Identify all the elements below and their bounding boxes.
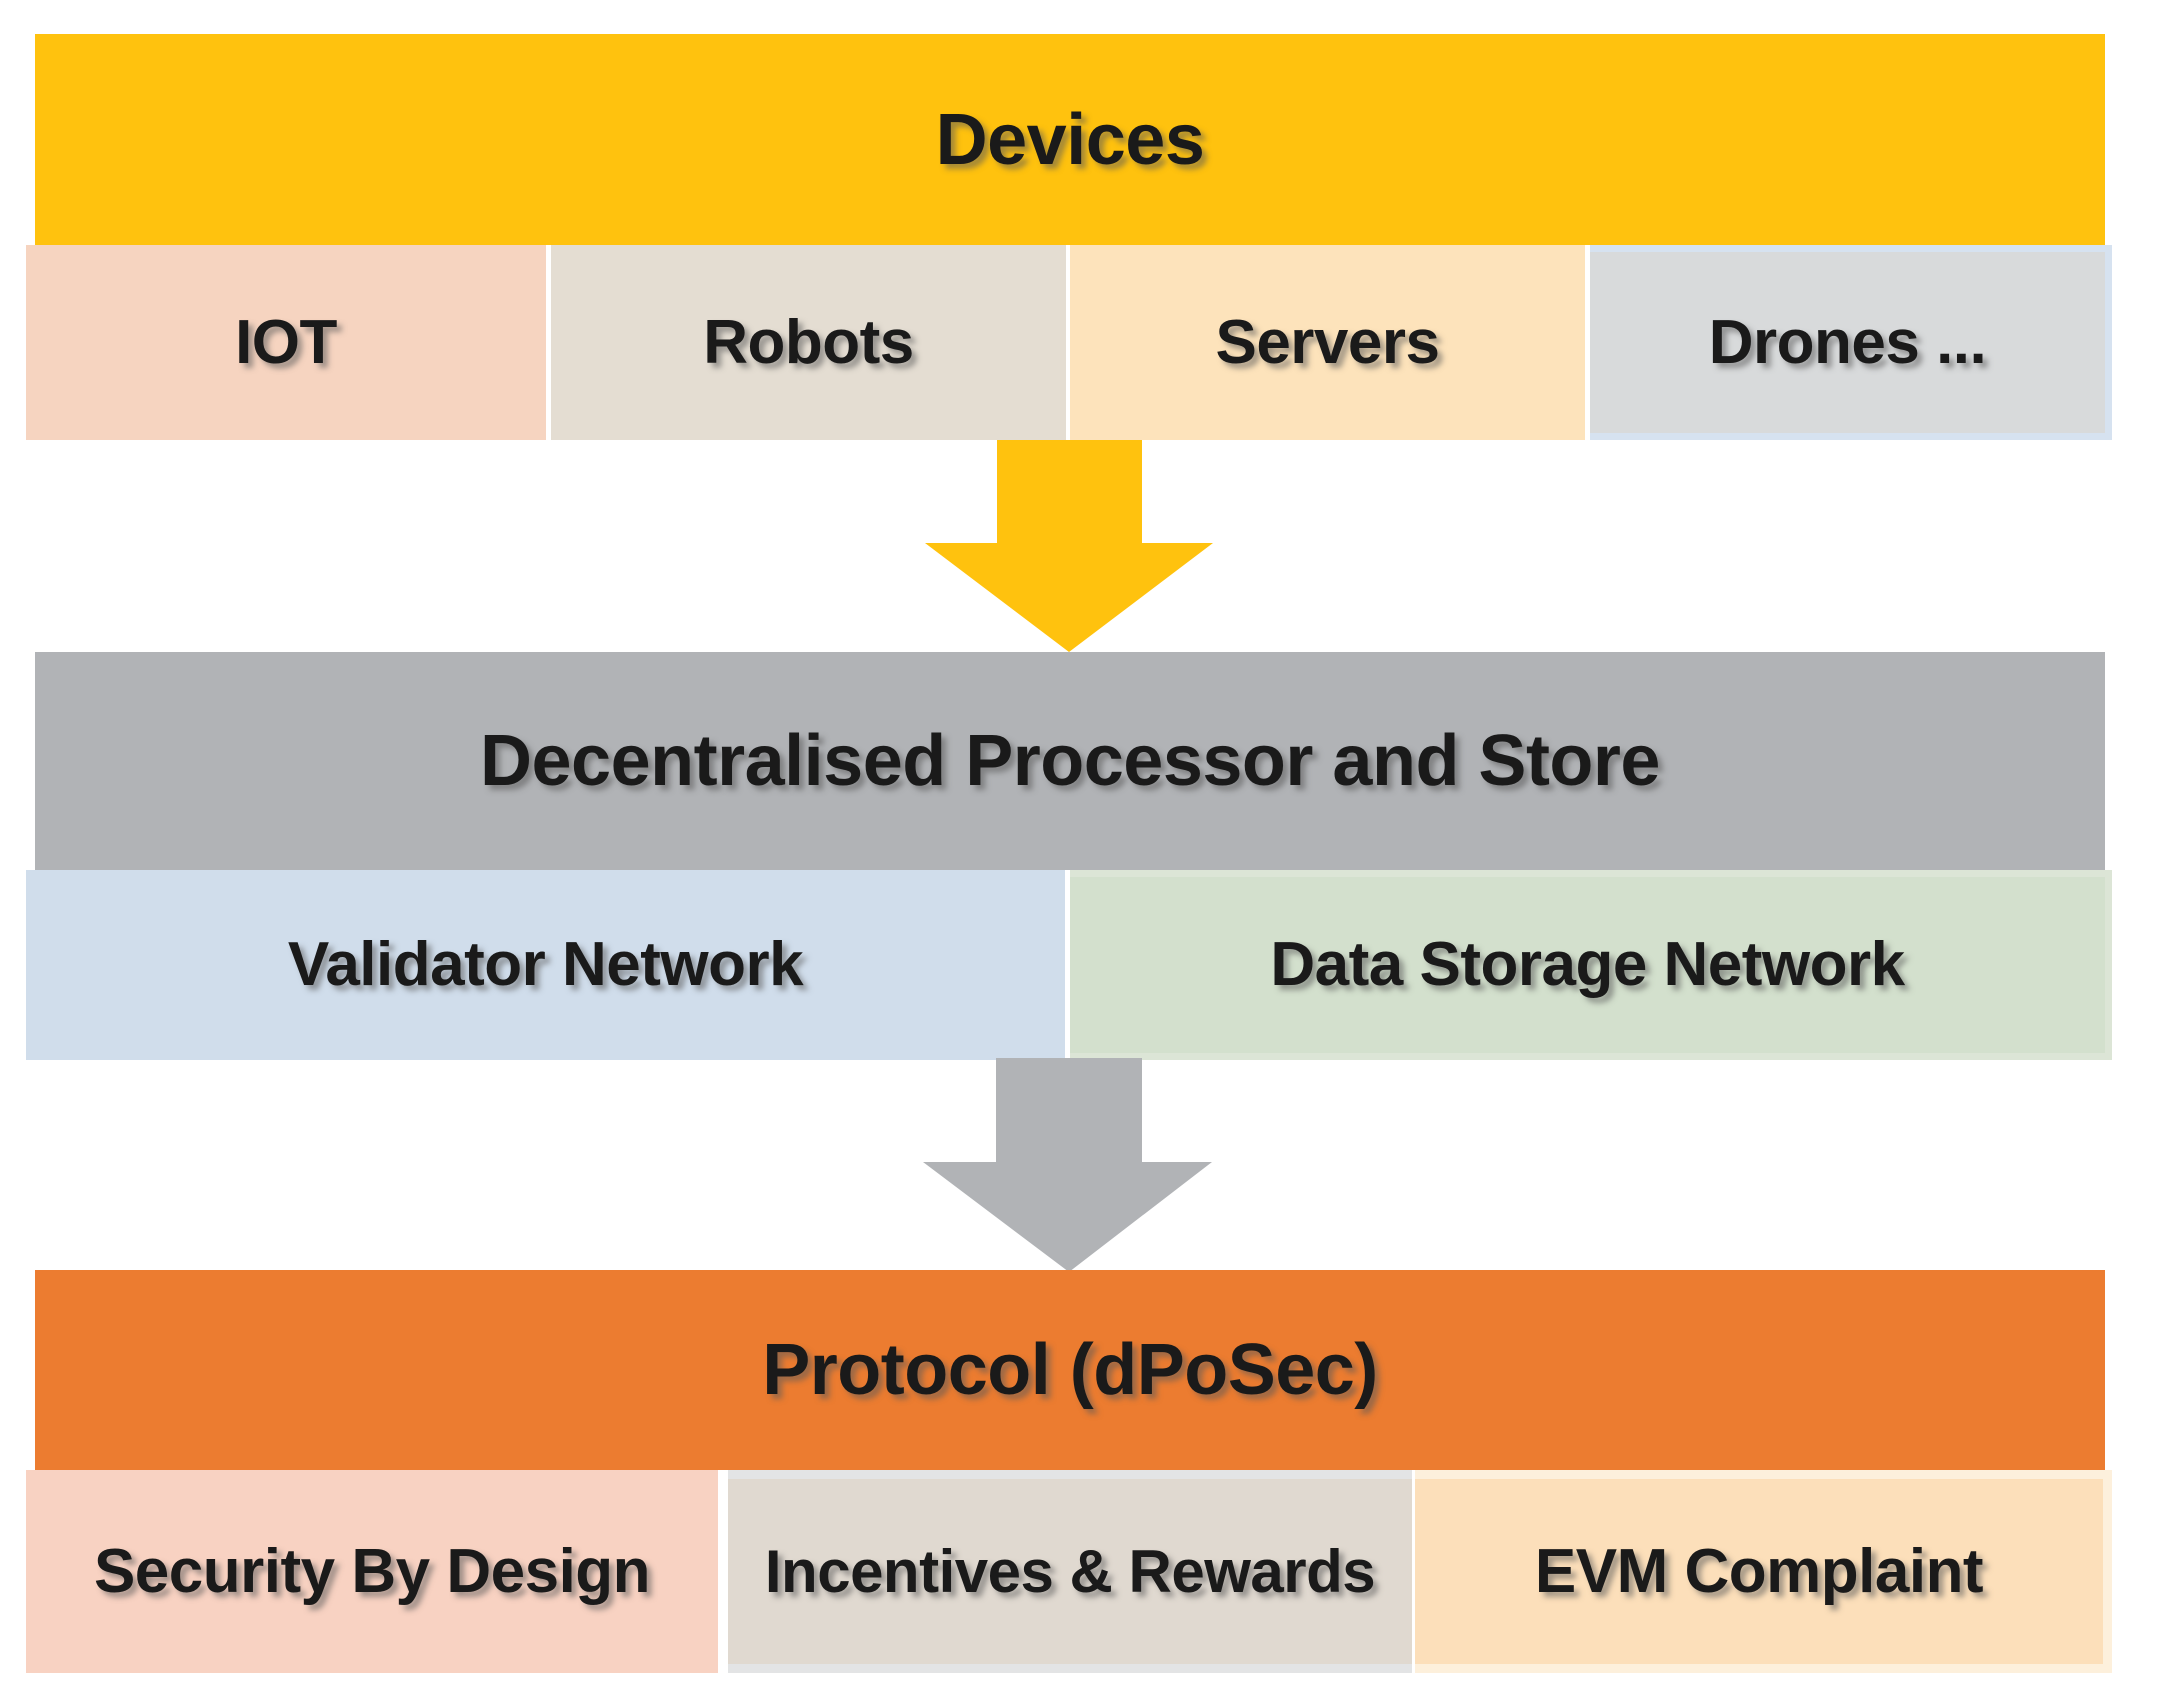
protocol-box-evm-complaint-label: EVM Complaint bbox=[1523, 1537, 1995, 1606]
protocol-box-incentives-and-rewards: Incentives & Rewards bbox=[728, 1470, 1412, 1673]
device-box-servers-label: Servers bbox=[1203, 308, 1451, 377]
protocol-box-incentives-and-rewards-label: Incentives & Rewards bbox=[753, 1538, 1387, 1605]
protocol-band: Protocol (dPoSec) bbox=[35, 1270, 2105, 1470]
devices-subrow: IOT Robots Servers Drones ... bbox=[26, 245, 2112, 440]
processor-box-data-storage-network: Data Storage Network bbox=[1070, 870, 2112, 1060]
processor-subrow: Validator Network Data Storage Network bbox=[26, 870, 2112, 1060]
protocol-box-security-by-design-label: Security By Design bbox=[82, 1537, 662, 1606]
arrow-down-processor-to-protocol bbox=[0, 1058, 2157, 1272]
diagram-canvas: Devices IOT Robots Servers Drones ... De… bbox=[0, 0, 2157, 1694]
devices-band: Devices bbox=[35, 34, 2105, 245]
processor-box-validator-network-label: Validator Network bbox=[276, 930, 815, 999]
protocol-box-evm-complaint: EVM Complaint bbox=[1415, 1470, 2112, 1673]
arrow-down-devices-to-processor bbox=[0, 440, 2157, 652]
device-box-servers: Servers bbox=[1070, 245, 1585, 440]
protocol-box-security-by-design: Security By Design bbox=[26, 1470, 718, 1673]
device-box-robots: Robots bbox=[551, 245, 1066, 440]
processor-band: Decentralised Processor and Store bbox=[35, 652, 2105, 870]
device-box-iot-label: IOT bbox=[223, 308, 349, 377]
device-box-drones-label: Drones ... bbox=[1697, 308, 1999, 377]
device-box-iot: IOT bbox=[26, 245, 546, 440]
device-box-robots-label: Robots bbox=[691, 308, 926, 377]
divider-security-incentives bbox=[718, 1470, 728, 1673]
device-box-drones: Drones ... bbox=[1590, 245, 2112, 440]
processor-box-data-storage-network-label: Data Storage Network bbox=[1258, 930, 1916, 999]
protocol-subrow: Security By Design Incentives & Rewards … bbox=[26, 1470, 2112, 1673]
devices-band-label: Devices bbox=[936, 99, 1205, 181]
protocol-band-label: Protocol (dPoSec) bbox=[762, 1329, 1378, 1411]
processor-box-validator-network: Validator Network bbox=[26, 870, 1065, 1060]
processor-band-label: Decentralised Processor and Store bbox=[480, 720, 1660, 802]
